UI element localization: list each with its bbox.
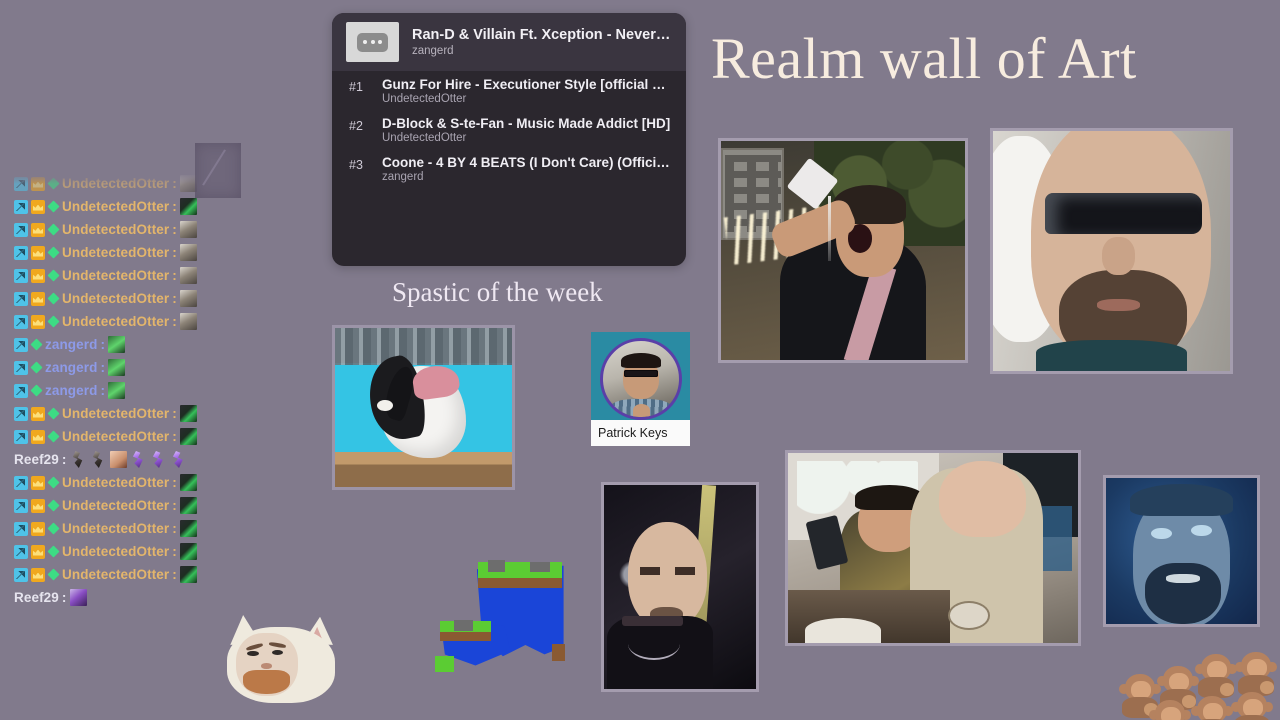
chat-emote-skin-icon	[110, 451, 127, 468]
moderator-badge-icon	[14, 223, 28, 237]
subscriber-badge-icon	[31, 292, 45, 306]
moderator-badge-icon	[14, 476, 28, 490]
moderator-badge-icon	[14, 568, 28, 582]
ellipsis-placeholder-icon	[357, 33, 388, 52]
playlist-rank: #2	[349, 116, 371, 133]
playlist-queue: #1Gunz For Hire - Executioner Style [off…	[332, 71, 686, 188]
page-title: Realm wall of Art	[711, 25, 1137, 92]
chat-username[interactable]: zangerd	[45, 337, 97, 352]
playlist-item[interactable]: #2D-Block & S-te-Fan - Music Made Addict…	[332, 110, 686, 149]
chat-colon: :	[62, 452, 67, 467]
chat-emote-gray-icon	[180, 267, 197, 284]
chat-colon: :	[100, 337, 105, 352]
chat-emote-purp-icon	[70, 589, 87, 606]
monkey-emote-cluster	[1118, 652, 1280, 720]
chat-emote-dark-icon	[180, 405, 197, 422]
chat-emote-gray-icon	[180, 244, 197, 261]
playlist-item[interactable]: #3Coone - 4 BY 4 BEATS (I Don't Care) (O…	[332, 149, 686, 188]
gem-badge-icon	[47, 292, 59, 304]
chat-colon: :	[172, 291, 177, 306]
gem-badge-icon	[47, 545, 59, 557]
chat-username[interactable]: UndetectedOtter	[62, 199, 169, 214]
chat-emote-dance-icon	[70, 451, 87, 468]
subscriber-badge-icon	[31, 545, 45, 559]
chat-emote-dark-icon	[180, 428, 197, 445]
avatar	[600, 338, 682, 420]
monkey-emote-icon	[1190, 696, 1234, 720]
chat-username[interactable]: UndetectedOtter	[62, 567, 169, 582]
restaurant-phone-photo	[785, 450, 1081, 646]
chat-username[interactable]: UndetectedOtter	[62, 245, 169, 260]
chat-message: UndetectedOtter:	[0, 425, 240, 448]
playlist-rank: #1	[349, 77, 371, 94]
night-market-drink-photo	[718, 138, 968, 363]
monkey-emote-icon	[1148, 700, 1192, 720]
song-request-playlist-panel[interactable]: Ran-D & Villain Ft. Xception - Never G… …	[332, 13, 686, 266]
chat-username[interactable]: UndetectedOtter	[62, 475, 169, 490]
goth-portrait-photo	[601, 482, 759, 692]
gem-badge-icon	[47, 315, 59, 327]
moderator-badge-icon	[14, 177, 28, 191]
chat-message: UndetectedOtter:	[0, 494, 240, 517]
chat-emote-dance-icon	[90, 451, 107, 468]
bearded-cat-sticker	[222, 615, 340, 703]
chat-emote-dark-icon	[180, 566, 197, 583]
chat-message: UndetectedOtter:	[0, 241, 240, 264]
subscriber-badge-icon	[31, 200, 45, 214]
chat-username[interactable]: UndetectedOtter	[62, 222, 169, 237]
chat-emote-gray-icon	[180, 290, 197, 307]
chat-username[interactable]: UndetectedOtter	[62, 521, 169, 536]
subscriber-badge-icon	[31, 476, 45, 490]
chat-colon: :	[172, 176, 177, 191]
chat-username[interactable]: UndetectedOtter	[62, 291, 169, 306]
subscriber-badge-icon	[31, 269, 45, 283]
subscriber-badge-icon	[31, 430, 45, 444]
chat-username[interactable]: UndetectedOtter	[62, 314, 169, 329]
chat-emote-dark-icon	[180, 520, 197, 537]
chat-emote-dark-icon	[180, 497, 197, 514]
subscriber-badge-icon	[31, 223, 45, 237]
chat-username[interactable]: zangerd	[45, 383, 97, 398]
chat-emote-green-icon	[108, 382, 125, 399]
playlist-requester: UndetectedOtter	[382, 93, 672, 105]
gem-badge-icon	[47, 269, 59, 281]
playlist-title: D-Block & S-te-Fan - Music Made Addict […	[382, 116, 672, 131]
chat-emote-green-icon	[108, 336, 125, 353]
chat-colon: :	[172, 245, 177, 260]
playlist-rank: #3	[349, 155, 371, 172]
chat-colon: :	[172, 222, 177, 237]
chat-feed[interactable]: UndetectedOtter:UndetectedOtter:Undetect…	[0, 172, 240, 620]
moderator-badge-icon	[14, 545, 28, 559]
chat-message: zangerd:	[0, 356, 240, 379]
chat-message: UndetectedOtter:	[0, 310, 240, 333]
chat-colon: :	[62, 590, 67, 605]
chat-emote-gray-icon	[180, 221, 197, 238]
chat-message: UndetectedOtter:	[0, 517, 240, 540]
chat-emote-dark-icon	[180, 474, 197, 491]
gem-badge-icon	[30, 384, 42, 396]
now-playing-row[interactable]: Ran-D & Villain Ft. Xception - Never G… …	[332, 13, 686, 71]
now-playing-title: Ran-D & Villain Ft. Xception - Never G…	[412, 27, 672, 43]
participant-name: Patrick Keys	[591, 426, 667, 440]
moderator-badge-icon	[14, 522, 28, 536]
gem-badge-icon	[30, 361, 42, 373]
moderator-badge-icon	[14, 499, 28, 513]
moderator-badge-icon	[14, 430, 28, 444]
chat-message: zangerd:	[0, 379, 240, 402]
playlist-title: Coone - 4 BY 4 BEATS (I Don't Care) (Off…	[382, 155, 672, 170]
section-title-spastic: Spastic of the week	[392, 277, 603, 308]
monkey-emote-icon	[1230, 692, 1274, 720]
subscriber-badge-icon	[31, 522, 45, 536]
chat-username[interactable]: UndetectedOtter	[62, 268, 169, 283]
chat-colon: :	[172, 429, 177, 444]
subscriber-badge-icon	[31, 407, 45, 421]
chat-emote-purpdance-icon	[130, 451, 147, 468]
gem-badge-icon	[47, 499, 59, 511]
moderator-badge-icon	[14, 407, 28, 421]
chat-colon: :	[172, 521, 177, 536]
chat-message: UndetectedOtter:	[0, 563, 240, 586]
gem-badge-icon	[47, 568, 59, 580]
gem-badge-icon	[47, 476, 59, 488]
bald-man-sunglasses-photo	[990, 128, 1233, 374]
chat-message: UndetectedOtter:	[0, 218, 240, 241]
moderator-badge-icon	[14, 200, 28, 214]
chat-message: UndetectedOtter:	[0, 540, 240, 563]
now-playing-requester: zangerd	[412, 45, 672, 57]
chat-emote-dark-icon	[180, 198, 197, 215]
subscriber-badge-icon	[31, 246, 45, 260]
playlist-item[interactable]: #1Gunz For Hire - Executioner Style [off…	[332, 71, 686, 110]
chat-username[interactable]: zangerd	[45, 360, 97, 375]
chat-message: zangerd:	[0, 333, 240, 356]
chat-message: UndetectedOtter:	[0, 195, 240, 218]
playlist-requester: UndetectedOtter	[382, 132, 672, 144]
chat-message: UndetectedOtter:	[0, 471, 240, 494]
chat-message: UndetectedOtter:	[0, 287, 240, 310]
chat-username[interactable]: Reef29	[14, 590, 59, 605]
chat-message: Reef29:	[0, 448, 240, 471]
chat-username[interactable]: UndetectedOtter	[62, 498, 169, 513]
gem-badge-icon	[30, 338, 42, 350]
chat-colon: :	[172, 567, 177, 582]
monkey-emote-icon	[1234, 652, 1278, 696]
chat-emote-purpdance-icon	[170, 451, 187, 468]
chat-colon: :	[172, 406, 177, 421]
gem-badge-icon	[47, 177, 59, 189]
chat-message: UndetectedOtter:	[0, 402, 240, 425]
playlist-requester: zangerd	[382, 171, 672, 183]
participant-name-bar: Patrick Keys	[591, 420, 690, 446]
moderator-badge-icon	[14, 292, 28, 306]
gem-badge-icon	[47, 223, 59, 235]
pixel-island-sticker	[432, 557, 572, 672]
chat-username[interactable]: Reef29	[14, 452, 59, 467]
chat-username[interactable]: UndetectedOtter	[62, 406, 169, 421]
moderator-badge-icon	[14, 361, 28, 375]
chat-colon: :	[172, 199, 177, 214]
moderator-badge-icon	[14, 315, 28, 329]
moderator-badge-icon	[14, 246, 28, 260]
chat-username[interactable]: UndetectedOtter	[62, 544, 169, 559]
gem-badge-icon	[47, 522, 59, 534]
subscriber-badge-icon	[31, 499, 45, 513]
chat-emote-green-icon	[108, 359, 125, 376]
chat-colon: :	[172, 498, 177, 513]
blue-cave-face-photo	[1103, 475, 1260, 627]
orca-splash-photo	[332, 325, 515, 490]
chat-colon: :	[100, 360, 105, 375]
moderator-badge-icon	[14, 269, 28, 283]
chat-message: Reef29:	[0, 586, 240, 609]
chat-message: UndetectedOtter:	[0, 264, 240, 287]
moderator-badge-icon	[14, 338, 28, 352]
chat-username[interactable]: UndetectedOtter	[62, 176, 169, 191]
subscriber-badge-icon	[31, 315, 45, 329]
chat-username[interactable]: UndetectedOtter	[62, 429, 169, 444]
chat-emote-purpdance-icon	[150, 451, 167, 468]
subscriber-badge-icon	[31, 568, 45, 582]
chat-colon: :	[172, 314, 177, 329]
chat-emote-dark-icon	[180, 543, 197, 560]
gem-badge-icon	[47, 246, 59, 258]
chat-colon: :	[100, 383, 105, 398]
subscriber-badge-icon	[31, 177, 45, 191]
video-thumbnail-placeholder	[346, 22, 399, 62]
chat-emote-gray-icon	[180, 313, 197, 330]
chat-colon: :	[172, 475, 177, 490]
chat-colon: :	[172, 268, 177, 283]
gem-badge-icon	[47, 200, 59, 212]
gem-badge-icon	[47, 407, 59, 419]
gem-badge-icon	[47, 430, 59, 442]
chat-colon: :	[172, 544, 177, 559]
translucent-square-overlay	[195, 143, 241, 198]
playlist-title: Gunz For Hire - Executioner Style [offic…	[382, 77, 672, 92]
zoom-participant-tile: Patrick Keys	[591, 332, 690, 446]
moderator-badge-icon	[14, 384, 28, 398]
